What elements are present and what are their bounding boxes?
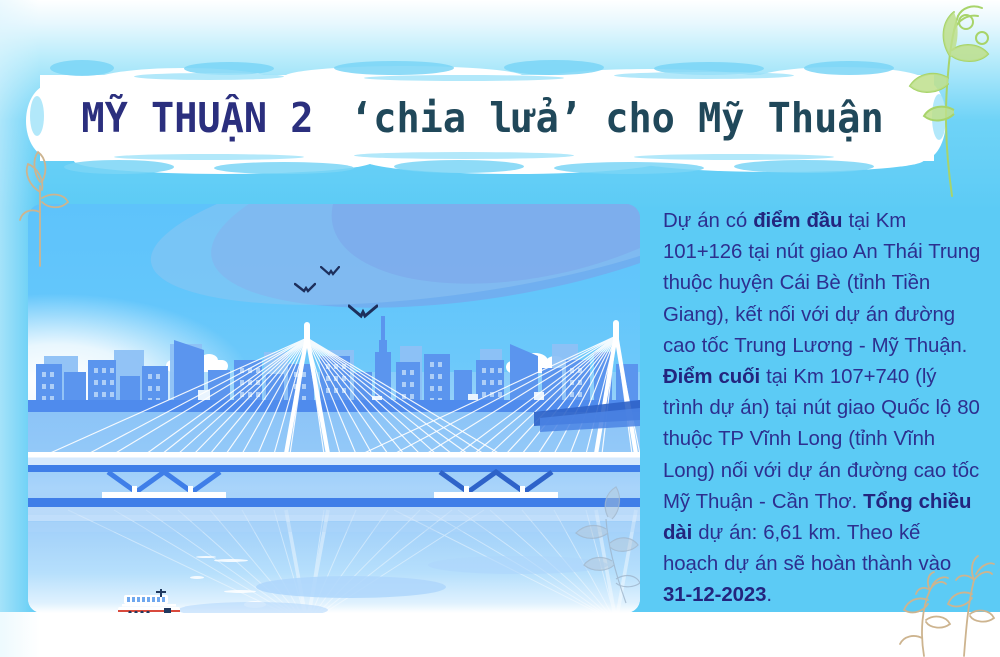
illustration-panel [28,204,640,613]
body-text-emphasis: Điểm cuối [663,366,760,388]
body-text-emphasis: 31-12-2023 [663,584,766,606]
title-banner: MỸ THUẬN 2 ‘chia lửa’ cho Mỹ Thuận [34,66,940,170]
water-ripple [190,576,204,579]
body-text-run: tại Km 101+126 tại nút giao An Thái Trun… [663,210,980,357]
page-title: MỸ THUẬN 2 ‘chia lửa’ cho Mỹ Thuận [34,66,940,170]
water-shadow [256,576,446,598]
body-text-run: dự án: 6,61 km. [692,522,841,544]
tan-flower-sprig-icon [890,546,1000,657]
background-white-base [0,612,1000,657]
body-text-emphasis: điểm đầu [753,210,842,232]
ferry-boat [112,589,186,613]
water-shadow [178,602,328,613]
body-text-run: Dự án có [663,210,753,232]
body-paragraph-start-point: Dự án có điểm đầu tại Km 101+126 tại nút… [663,210,980,357]
page-title-segment-2: ‘chia lửa’ cho Mỹ Thuận [350,98,884,139]
green-leaf-sprig-icon [896,4,1000,199]
infographic-page: MỸ THUẬN 2 ‘chia lửa’ cho Mỹ Thuận [0,0,1000,657]
water-ripple [196,556,216,558]
leaf-plant [562,485,640,605]
water-ripple [214,559,248,562]
tan-leaf-sprig-icon [16,148,76,268]
body-text-run: . [766,584,772,606]
cable-stayed-bridge [28,204,640,613]
page-title-segment-1: MỸ THUẬN 2 [81,98,313,139]
water-ripple [224,590,256,593]
